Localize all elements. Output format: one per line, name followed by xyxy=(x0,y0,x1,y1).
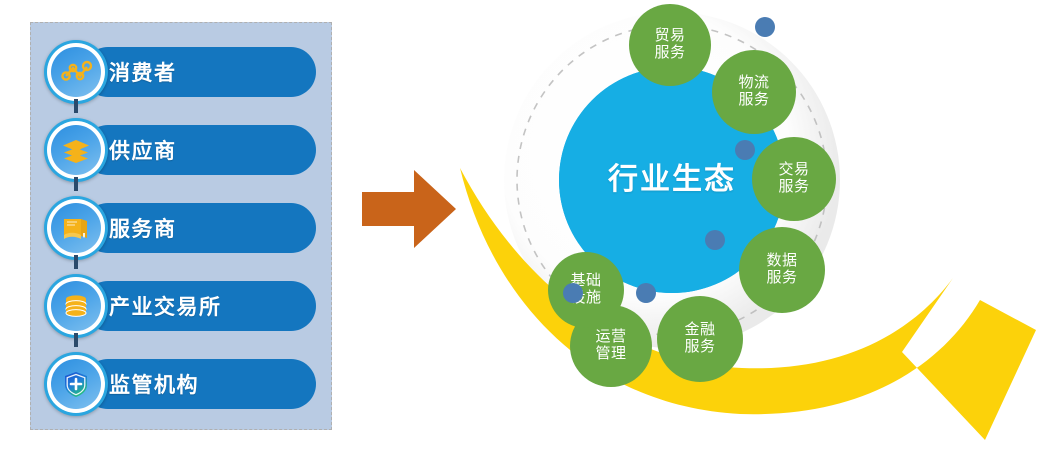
stakeholder-ring-0 xyxy=(44,40,108,104)
ecosystem-graphic: 行业生态 贸易 服务 物流 服务 交易 服务 数据 服务 金融 服务 运营 管理 xyxy=(440,0,1049,454)
stakeholder-ring-4 xyxy=(44,352,108,416)
stakeholder-item-2[interactable]: 服务商 xyxy=(31,197,333,259)
center-bubble-label: 行业生态 xyxy=(608,163,736,197)
stakeholder-ring-1 xyxy=(44,118,108,182)
diagram-canvas: 消费者 供应商 xyxy=(0,0,1049,454)
stakeholder-item-4[interactable]: 监管机构 xyxy=(31,353,333,415)
stakeholder-connector-3 xyxy=(74,333,78,347)
stakeholder-item-0[interactable]: 消费者 xyxy=(31,41,333,103)
stakeholder-ring-3 xyxy=(44,274,108,338)
database-cylinder-icon xyxy=(51,281,101,331)
eco-node-data-line2: 服务 xyxy=(766,270,797,287)
eco-node-logistics[interactable]: 物流 服务 xyxy=(712,50,796,134)
stakeholder-connector-2 xyxy=(74,255,78,269)
stakeholder-panel: 消费者 供应商 xyxy=(30,22,332,430)
stakeholder-label-0: 消费者 xyxy=(109,57,177,87)
eco-node-logistics-line1: 物流 xyxy=(738,75,769,92)
dot-mid-right xyxy=(705,230,725,250)
eco-node-operations-line1: 运营 xyxy=(595,329,626,346)
stacked-layers-icon xyxy=(51,125,101,175)
eco-node-finance-line2: 服务 xyxy=(684,339,715,356)
eco-node-finance-line1: 金融 xyxy=(684,322,715,339)
stakeholder-item-1[interactable]: 供应商 xyxy=(31,119,333,181)
stakeholder-connector-1 xyxy=(74,177,78,191)
eco-node-data[interactable]: 数据 服务 xyxy=(739,227,825,313)
eco-node-logistics-line2: 服务 xyxy=(738,92,769,109)
eco-node-infrastructure[interactable]: 基础 设施 xyxy=(548,252,624,328)
stakeholder-ring-2 xyxy=(44,196,108,260)
network-nodes-icon xyxy=(51,47,101,97)
eco-node-trade-line2: 服务 xyxy=(654,45,685,62)
eco-node-operations-line2: 管理 xyxy=(595,346,626,363)
dot-bottom-center xyxy=(636,283,656,303)
eco-node-transaction[interactable]: 交易 服务 xyxy=(752,137,836,221)
stakeholder-label-3: 产业交易所 xyxy=(109,291,222,321)
shield-plus-icon xyxy=(51,359,101,409)
stakeholder-label-1: 供应商 xyxy=(109,135,177,165)
stakeholder-label-4: 监管机构 xyxy=(109,369,199,399)
stakeholder-item-3[interactable]: 产业交易所 xyxy=(31,275,333,337)
stakeholder-connector-0 xyxy=(74,99,78,113)
dot-right xyxy=(735,140,755,160)
eco-node-trade-line1: 贸易 xyxy=(654,28,685,45)
open-book-icon xyxy=(51,203,101,253)
eco-node-finance[interactable]: 金融 服务 xyxy=(657,296,743,382)
dot-bottom-left xyxy=(563,283,583,303)
stakeholder-label-2: 服务商 xyxy=(109,213,177,243)
eco-node-transaction-line1: 交易 xyxy=(778,162,809,179)
eco-node-transaction-line2: 服务 xyxy=(778,179,809,196)
eco-node-data-line1: 数据 xyxy=(766,253,797,270)
dot-upper-right xyxy=(755,17,775,37)
eco-node-trade[interactable]: 贸易 服务 xyxy=(629,4,711,86)
